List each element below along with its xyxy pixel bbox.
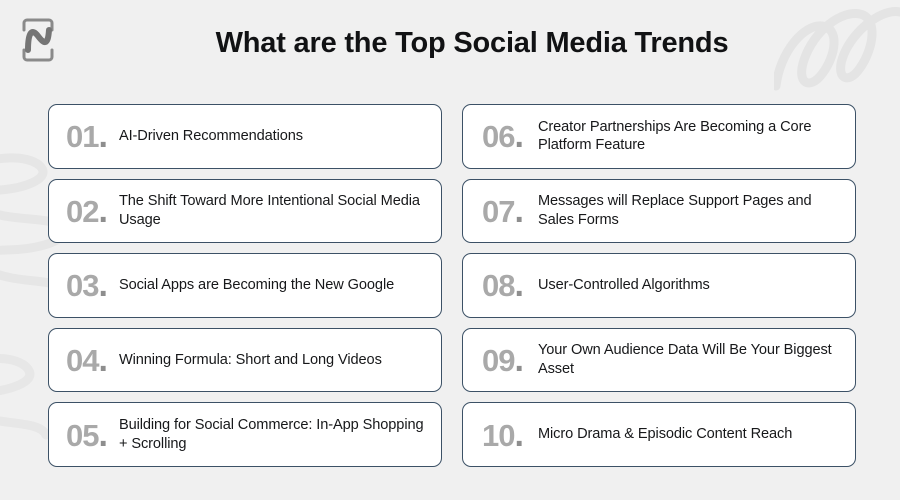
trend-number-dot: . [98, 192, 106, 230]
trend-number: 04. [66, 343, 112, 377]
trend-label: Building for Social Commerce: In-App Sho… [112, 416, 427, 453]
trend-card[interactable]: 07. Messages will Replace Support Pages … [462, 179, 856, 244]
trend-label: User-Controlled Algorithms [528, 276, 841, 295]
trend-label: The Shift Toward More Intentional Social… [112, 192, 427, 229]
trend-card[interactable]: 01. AI-Driven Recommendations [48, 104, 442, 169]
trends-column-left: 01. AI-Driven Recommendations 02. The Sh… [48, 104, 442, 467]
trend-number: 06. [482, 119, 528, 153]
trend-number: 02. [66, 194, 112, 228]
page-header: What are the Top Social Media Trends [0, 0, 900, 96]
trend-card[interactable]: 09. Your Own Audience Data Will Be Your … [462, 328, 856, 393]
trend-label: Micro Drama & Episodic Content Reach [528, 425, 841, 444]
trend-number-dot: . [98, 341, 106, 379]
trend-label: Messages will Replace Support Pages and … [528, 192, 841, 229]
trend-number-dot: . [514, 341, 522, 379]
trend-card[interactable]: 06. Creator Partnerships Are Becoming a … [462, 104, 856, 169]
trends-board: 01. AI-Driven Recommendations 02. The Sh… [48, 104, 856, 467]
trend-card[interactable]: 04. Winning Formula: Short and Long Vide… [48, 328, 442, 393]
trend-number: 03. [66, 268, 112, 302]
trends-column-right: 06. Creator Partnerships Are Becoming a … [462, 104, 856, 467]
trend-number-dot: . [98, 266, 106, 304]
trend-label: Creator Partnerships Are Becoming a Core… [528, 118, 841, 155]
trend-number: 01. [66, 119, 112, 153]
trend-label: AI-Driven Recommendations [112, 127, 427, 146]
trend-number: 09. [482, 343, 528, 377]
page-title: What are the Top Social Media Trends [0, 27, 900, 60]
trend-number: 07. [482, 194, 528, 228]
trend-card[interactable]: 02. The Shift Toward More Intentional So… [48, 179, 442, 244]
trend-number-dot: . [98, 117, 106, 155]
trend-number: 05. [66, 418, 112, 452]
trend-label: Social Apps are Becoming the New Google [112, 276, 427, 295]
trend-label: Winning Formula: Short and Long Videos [112, 351, 427, 370]
trend-card[interactable]: 10. Micro Drama & Episodic Content Reach [462, 402, 856, 467]
trend-number-dot: . [514, 416, 522, 454]
trend-number-dot: . [514, 192, 522, 230]
trend-card[interactable]: 08. User-Controlled Algorithms [462, 253, 856, 318]
trend-number-dot: . [514, 266, 522, 304]
trend-number: 08. [482, 268, 528, 302]
trend-label: Your Own Audience Data Will Be Your Bigg… [528, 341, 841, 378]
trend-card[interactable]: 03. Social Apps are Becoming the New Goo… [48, 253, 442, 318]
trend-number-dot: . [98, 416, 106, 454]
trend-card[interactable]: 05. Building for Social Commerce: In-App… [48, 402, 442, 467]
trend-number: 10. [482, 418, 528, 452]
trend-number-dot: . [514, 117, 522, 155]
